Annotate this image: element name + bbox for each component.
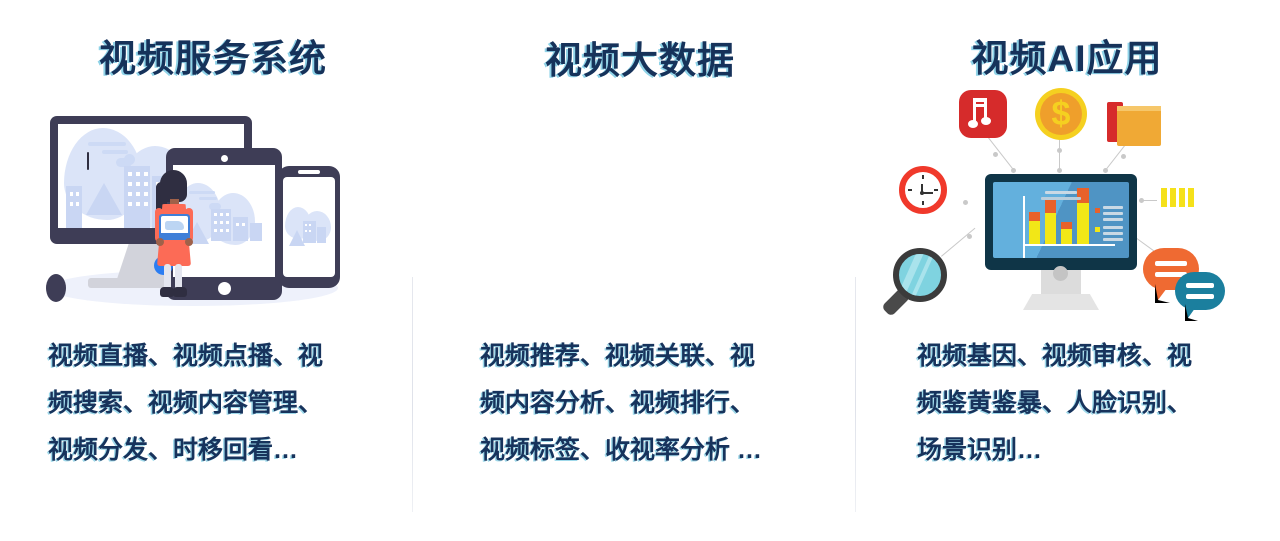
mouse-icon xyxy=(46,274,66,302)
body-line: 场景识别… xyxy=(917,427,1237,474)
column-2-heading: 视频大数据 xyxy=(427,30,853,84)
tablet-home-button xyxy=(218,282,231,295)
devices-responsive-illustration xyxy=(26,108,356,313)
column-1-body: 视频直播、视频点播、视 频搜索、视频内容管理、 视频分发、时移回看… xyxy=(0,333,378,474)
held-tablet-icon xyxy=(159,214,190,240)
body-line: 视频基因、视频审核、视 xyxy=(917,333,1237,380)
hair xyxy=(160,170,187,202)
phone-screen xyxy=(283,177,335,277)
body-line: 频搜索、视频内容管理、 xyxy=(48,380,378,427)
smartphone-icon xyxy=(278,166,340,288)
column-3-body: 视频基因、视频审核、视 频鉴黄鉴暴、人脸识别、 场景识别… xyxy=(854,333,1237,474)
left-shoe xyxy=(160,287,174,297)
tablet-camera xyxy=(221,155,228,162)
column-3-heading: 视频AI应用 xyxy=(854,28,1280,82)
column-1-heading: 视频服务系统 xyxy=(0,28,426,82)
person-illustration xyxy=(148,170,200,298)
column-video-big-data: 视频大数据 xyxy=(427,0,853,541)
body-line: 频鉴黄鉴暴、人脸识别、 xyxy=(917,380,1237,427)
body-line: 视频标签、收视率分析 … xyxy=(480,427,800,474)
body-line: 视频推荐、视频关联、视 xyxy=(480,333,800,380)
body-line: 视频直播、视频点播、视 xyxy=(48,333,378,380)
column-video-ai-application: 视频AI应用 xyxy=(854,0,1280,541)
held-tablet-screen xyxy=(161,216,188,238)
column-video-service-system: 视频服务系统 xyxy=(0,0,426,541)
body-line: 频内容分析、视频排行、 xyxy=(480,380,800,427)
phone-notch xyxy=(298,170,320,174)
cityscape-art-phone xyxy=(283,177,335,277)
right-shoe xyxy=(173,287,187,297)
right-hand xyxy=(185,238,193,246)
column-2-body: 视频推荐、视频关联、视 频内容分析、视频排行、 视频标签、收视率分析 … xyxy=(427,333,800,474)
body-line: 视频分发、时移回看… xyxy=(48,427,378,474)
phone-side-button xyxy=(87,152,89,170)
left-hand xyxy=(156,238,164,246)
feature-columns-banner: 视频服务系统 xyxy=(0,0,1280,541)
held-tablet-image xyxy=(165,221,184,230)
held-tablet-bar xyxy=(161,233,188,238)
